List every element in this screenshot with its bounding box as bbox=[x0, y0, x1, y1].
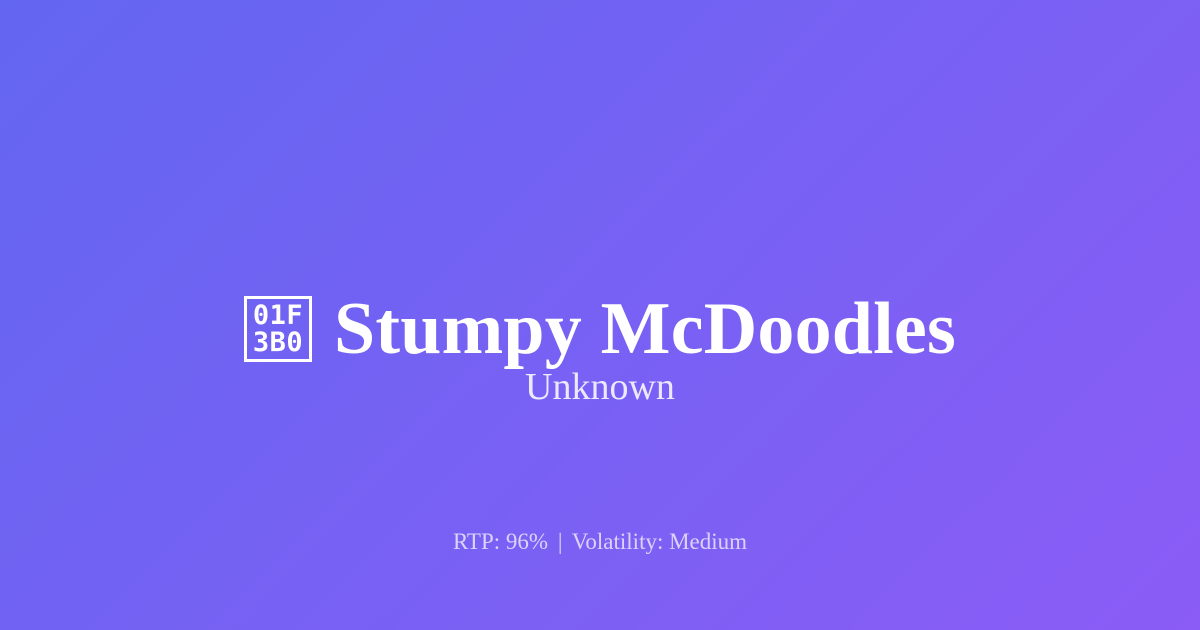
game-meta-line: RTP: 96% | Volatility: Medium bbox=[0, 527, 1200, 557]
volatility-label: Volatility: bbox=[572, 529, 664, 554]
slot-machine-emoji-tofu-icon: 01F 3B0 bbox=[244, 296, 312, 362]
provider-subtitle: Unknown bbox=[0, 364, 1200, 410]
page-title: Stumpy McDoodles bbox=[334, 286, 956, 372]
game-og-card: 01F 3B0 Stumpy McDoodles Unknown RTP: 96… bbox=[0, 0, 1200, 630]
rtp-value: 96% bbox=[506, 529, 548, 554]
tofu-codepoint-bottom: 3B0 bbox=[253, 329, 303, 356]
rtp-label: RTP: bbox=[453, 529, 500, 554]
volatility-value: Medium bbox=[669, 529, 747, 554]
tofu-codepoint-top: 01F bbox=[253, 302, 303, 329]
meta-separator: | bbox=[554, 529, 567, 554]
